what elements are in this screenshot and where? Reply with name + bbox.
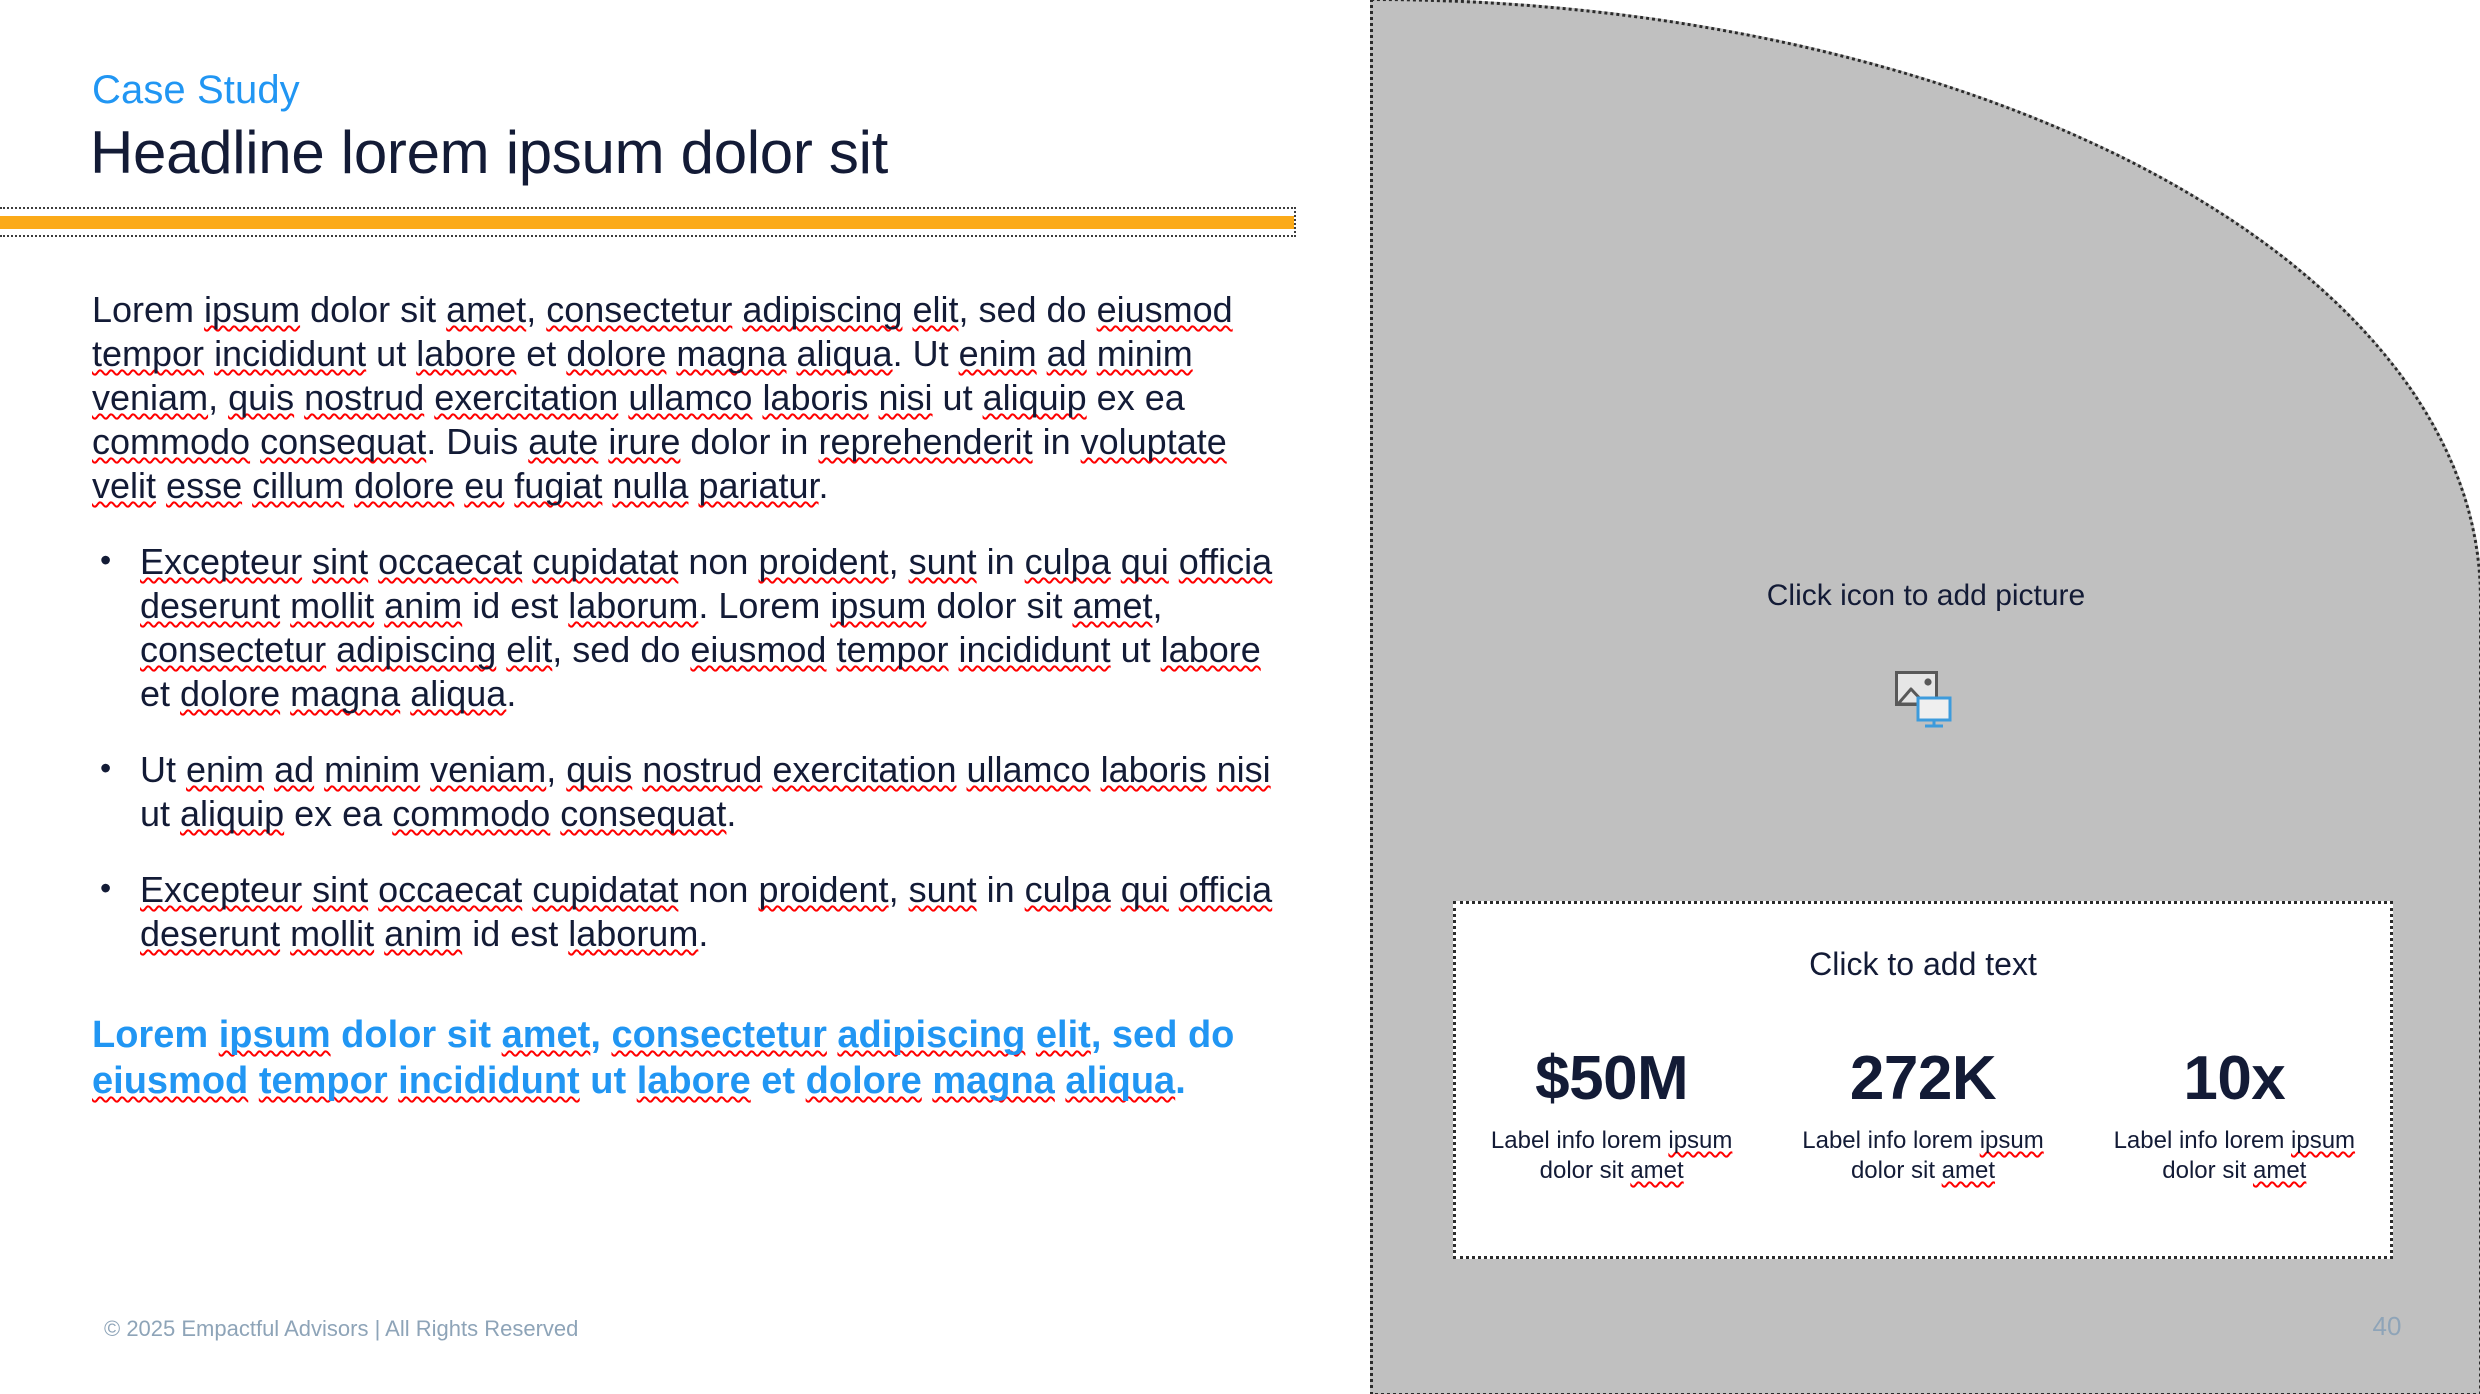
stats-text-placeholder[interactable]: Click to add text $50MLabel info lorem i… <box>1453 901 2393 1259</box>
stats-row: $50MLabel info lorem ipsum dolor sit ame… <box>1456 1042 2390 1186</box>
title-divider <box>0 207 1296 237</box>
left-content-column: Case Study Headline lorem ipsum dolor si… <box>0 0 1370 1394</box>
footer-copyright: © 2025 Empactful Advisors | All Rights R… <box>104 1316 578 1342</box>
slide-canvas: Case Study Headline lorem ipsum dolor si… <box>0 0 2480 1394</box>
orange-accent-bar <box>0 216 1294 229</box>
stat-cell: $50MLabel info lorem ipsum dolor sit ame… <box>1456 1042 1767 1186</box>
add-picture-icon[interactable] <box>1895 671 1957 729</box>
bullet-list: Excepteur sint occaecat cupidatat non pr… <box>92 540 1282 956</box>
conclusion-paragraph: Lorem ipsum dolor sit amet, consectetur … <box>92 1012 1282 1104</box>
stat-value: 272K <box>1781 1042 2064 1116</box>
stat-cell: 10xLabel info lorem ipsum dolor sit amet <box>2079 1042 2390 1186</box>
intro-paragraph: Lorem ipsum dolor sit amet, consectetur … <box>92 288 1282 508</box>
stat-label: Label info lorem ipsum dolor sit amet <box>2093 1126 2376 1186</box>
stat-cell: 272KLabel info lorem ipsum dolor sit ame… <box>1767 1042 2078 1186</box>
eyebrow-label[interactable]: Case Study <box>92 68 300 113</box>
stat-value: $50M <box>1470 1042 1753 1116</box>
page-number: 40 <box>2357 1311 2417 1342</box>
right-image-panel[interactable]: Click icon to add picture Click to add t… <box>1370 0 2480 1394</box>
stat-label: Label info lorem ipsum dolor sit amet <box>1781 1126 2064 1186</box>
stats-placeholder-prompt: Click to add text <box>1456 946 2390 983</box>
picture-placeholder-prompt: Click icon to add picture <box>1373 579 2479 613</box>
stat-label: Label info lorem ipsum dolor sit amet <box>1470 1126 1753 1186</box>
list-item: Excepteur sint occaecat cupidatat non pr… <box>92 868 1282 956</box>
stat-value: 10x <box>2093 1042 2376 1116</box>
body-text-placeholder[interactable]: Lorem ipsum dolor sit amet, consectetur … <box>92 288 1282 1104</box>
list-item: Ut enim ad minim veniam, quis nostrud ex… <box>92 748 1282 836</box>
list-item: Excepteur sint occaecat cupidatat non pr… <box>92 540 1282 716</box>
page-title[interactable]: Headline lorem ipsum dolor sit <box>90 118 888 187</box>
